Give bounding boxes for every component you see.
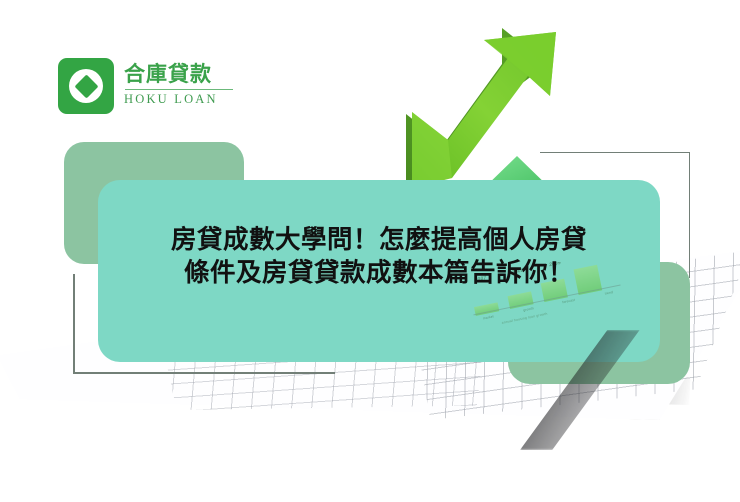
brand-name-cn: 合庫貸款 — [124, 62, 236, 86]
logo-diamond — [74, 74, 98, 98]
logo-ring — [69, 69, 103, 103]
headline-line-1: 房貸成數大學問！怎麼提高個人房貸 — [98, 224, 660, 257]
frame-top-right-vertical — [689, 152, 690, 278]
brand-logo[interactable]: 合庫貸款 HOKU LOAN — [58, 56, 238, 118]
frame-bottom-left-horizontal — [73, 372, 335, 374]
diamond-in-circle-logo-icon — [58, 58, 114, 114]
brand-name-en: HOKU LOAN — [124, 92, 236, 107]
frame-bottom-left-vertical — [73, 274, 75, 373]
brand-logo-text: 合庫貸款 HOKU LOAN — [124, 62, 236, 107]
headline-line-2: 條件及房貸貸款成數本篇告訴你！ — [98, 257, 660, 290]
frame-top-right-horizontal — [540, 152, 690, 153]
logo-divider — [125, 89, 233, 90]
banner-canvas: 2007 2008 2009 2010 market growth foreca… — [0, 0, 740, 502]
page-title: 房貸成數大學問！怎麼提高個人房貸 條件及房貸貸款成數本篇告訴你！ — [98, 224, 660, 290]
